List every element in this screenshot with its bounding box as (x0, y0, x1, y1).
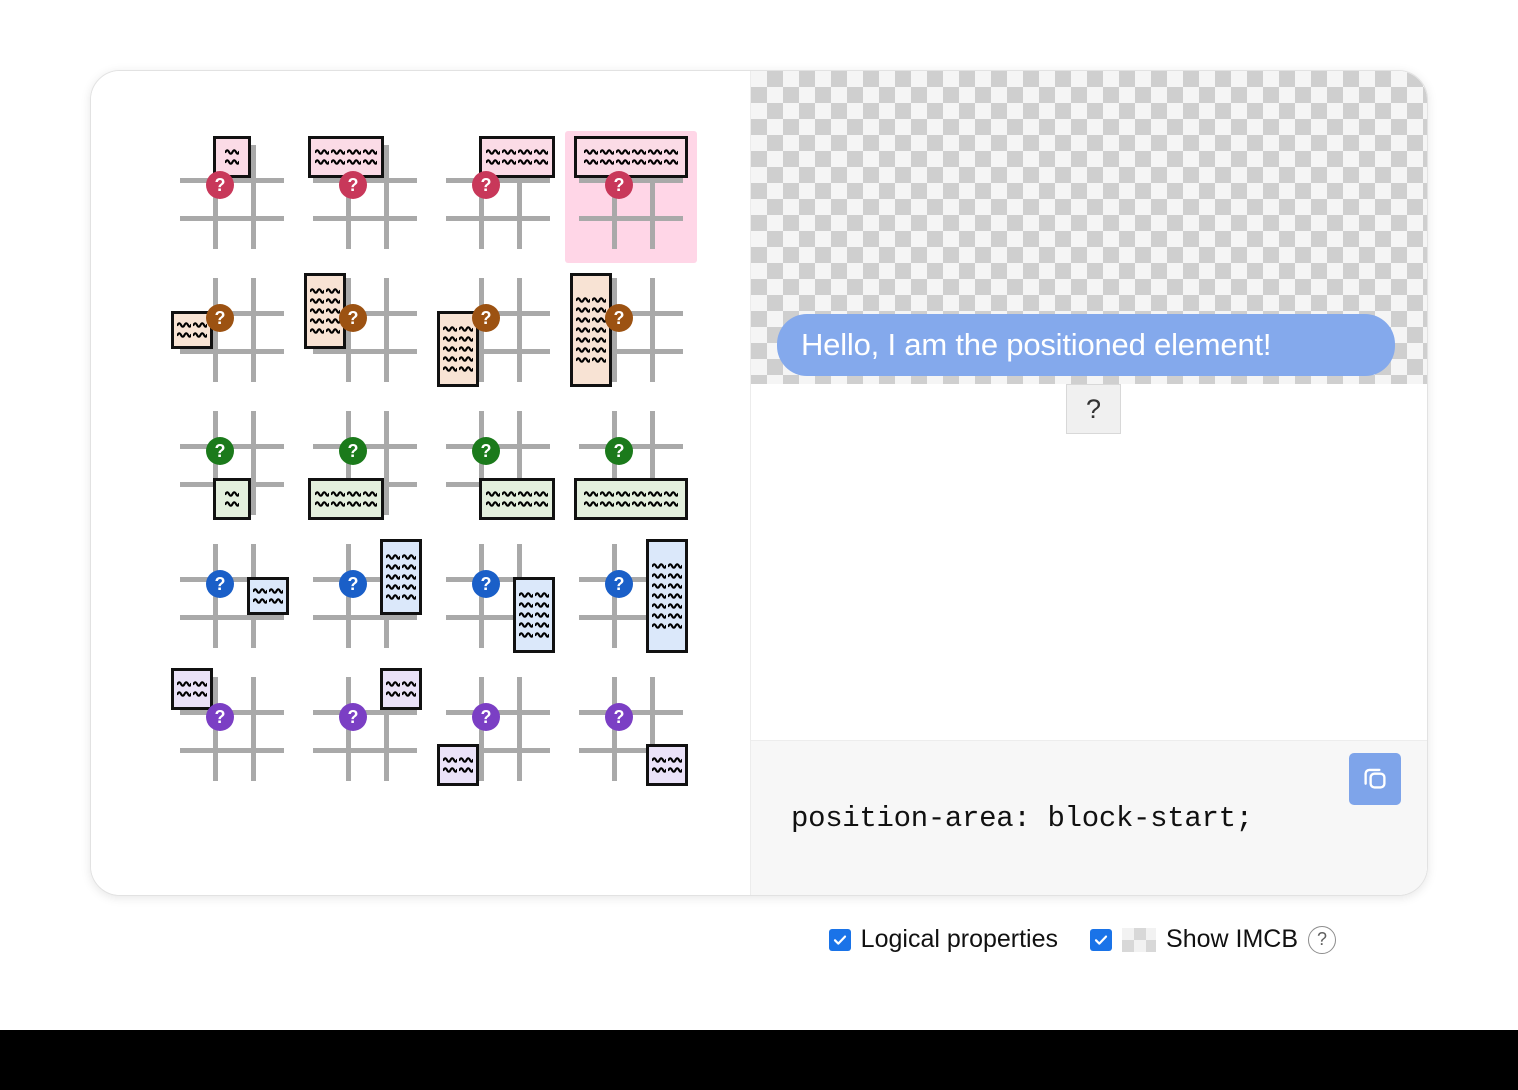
squiggle-icon (592, 336, 606, 344)
squiggle-row (519, 591, 549, 599)
squiggle-row (443, 335, 473, 343)
anchor-marker-icon: ? (206, 304, 234, 332)
squiggle-row (386, 573, 416, 581)
squiggle-row (443, 365, 473, 373)
show-imcb-label: Show IMCB (1166, 925, 1298, 954)
anchor-marker-icon: ? (339, 304, 367, 332)
copy-button[interactable] (1349, 753, 1401, 805)
squiggle-icon (502, 158, 516, 166)
logical-properties-control[interactable]: Logical properties (829, 925, 1058, 954)
anchor-marker-icon: ? (206, 703, 234, 731)
element-box (646, 744, 688, 786)
anchor-marker-icon: ? (472, 171, 500, 199)
squiggle-icon (225, 158, 239, 166)
squiggle-icon (502, 490, 516, 498)
anchor-marker-icon: ? (339, 171, 367, 199)
grid-line (384, 278, 389, 382)
squiggle-icon (502, 500, 516, 508)
squiggle-row (386, 563, 416, 571)
position-area-option[interactable]: ? (166, 663, 298, 795)
squiggle-icon (652, 756, 666, 764)
squiggle-row (315, 158, 377, 166)
grid-line (180, 615, 284, 620)
squiggle-icon (652, 592, 666, 600)
squiggle-row (576, 346, 606, 354)
squiggle-row (584, 148, 678, 156)
anchor-marker-icon: ? (472, 570, 500, 598)
squiggle-icon (459, 345, 473, 353)
squiggle-row (225, 490, 239, 498)
squiggle-icon (486, 490, 500, 498)
squiggle-icon (519, 631, 533, 639)
squiggle-icon (386, 563, 400, 571)
grid-line (579, 216, 683, 221)
squiggle-icon (518, 500, 532, 508)
position-area-option[interactable]: ? (299, 397, 431, 529)
squiggle-row (486, 148, 548, 156)
grid-line (313, 216, 417, 221)
squiggle-row (177, 690, 207, 698)
squiggle-icon (652, 612, 666, 620)
squiggle-icon (310, 327, 324, 335)
squiggle-row (310, 327, 340, 335)
anchor-marker-icon: ? (605, 703, 633, 731)
squiggle-icon (443, 335, 457, 343)
squiggle-icon (648, 490, 662, 498)
squiggle-icon (592, 306, 606, 314)
squiggle-icon (225, 148, 239, 156)
squiggle-icon (652, 766, 666, 774)
squiggle-icon (652, 602, 666, 610)
element-box (574, 478, 688, 520)
squiggle-icon (310, 307, 324, 315)
anchor-element[interactable]: ? (1066, 384, 1121, 434)
position-area-option[interactable]: ? (565, 530, 697, 662)
squiggle-icon (177, 331, 191, 339)
squiggle-icon (363, 490, 377, 498)
squiggle-icon (576, 296, 590, 304)
anchor-marker-icon: ? (339, 703, 367, 731)
squiggle-icon (632, 148, 646, 156)
squiggle-icon (616, 490, 630, 498)
squiggle-icon (331, 158, 345, 166)
grid-line (650, 278, 655, 382)
squiggle-icon (269, 587, 283, 595)
logical-properties-checkbox[interactable] (829, 929, 851, 951)
element-box (171, 668, 213, 710)
squiggle-icon (402, 573, 416, 581)
squiggle-row (652, 756, 682, 764)
squiggle-row (652, 612, 682, 620)
squiggle-icon (386, 680, 400, 688)
squiggle-icon (535, 601, 549, 609)
element-box (380, 539, 422, 615)
squiggle-icon (502, 148, 516, 156)
squiggle-row (652, 602, 682, 610)
position-area-option[interactable]: ? (299, 264, 431, 396)
grid-line (180, 216, 284, 221)
squiggle-row (386, 583, 416, 591)
show-imcb-control[interactable]: Show IMCB (1090, 925, 1298, 954)
squiggle-row (486, 158, 548, 166)
squiggle-icon (402, 593, 416, 601)
squiggle-icon (576, 346, 590, 354)
bottom-bar (0, 1030, 1518, 1090)
squiggle-icon (518, 490, 532, 498)
squiggle-icon (402, 583, 416, 591)
squiggle-icon (535, 611, 549, 619)
squiggle-icon (518, 148, 532, 156)
squiggle-row (486, 490, 548, 498)
squiggle-icon (668, 612, 682, 620)
squiggle-icon (443, 766, 457, 774)
controls-bar: Logical properties Show IMCB ? (0, 925, 1428, 954)
anchor-marker-icon: ? (206, 171, 234, 199)
anchor-marker-icon: ? (472, 703, 500, 731)
grid-line (384, 411, 389, 515)
squiggle-row (386, 553, 416, 561)
squiggle-row (486, 500, 548, 508)
squiggle-row (386, 680, 416, 688)
anchor-marker-icon: ? (605, 171, 633, 199)
squiggle-row (443, 756, 473, 764)
grid-line (251, 145, 256, 249)
squiggle-row (315, 500, 377, 508)
squiggle-icon (534, 158, 548, 166)
squiggle-row (443, 325, 473, 333)
squiggle-icon (584, 500, 598, 508)
squiggle-icon (347, 148, 361, 156)
anchor-marker-icon: ? (605, 570, 633, 598)
squiggle-icon (443, 365, 457, 373)
grid-line (517, 677, 522, 781)
squiggle-icon (632, 490, 646, 498)
squiggle-icon (386, 583, 400, 591)
squiggle-icon (177, 690, 191, 698)
squiggle-row (584, 500, 678, 508)
anchor-marker-icon: ? (472, 437, 500, 465)
squiggle-icon (363, 500, 377, 508)
squiggle-icon (576, 306, 590, 314)
squiggle-icon (535, 591, 549, 599)
squiggle-icon (534, 148, 548, 156)
element-box (247, 577, 289, 615)
squiggle-icon (534, 500, 548, 508)
squiggle-icon (519, 601, 533, 609)
squiggle-icon (632, 158, 646, 166)
squiggle-icon (668, 582, 682, 590)
squiggle-row (519, 621, 549, 629)
squiggle-row (652, 592, 682, 600)
squiggle-icon (600, 158, 614, 166)
grid-line (384, 145, 389, 249)
squiggle-icon (592, 356, 606, 364)
squiggle-icon (668, 562, 682, 570)
squiggle-row (443, 355, 473, 363)
squiggle-row (652, 622, 682, 630)
squiggle-icon (648, 500, 662, 508)
position-area-option[interactable]: ? (299, 131, 431, 263)
squiggle-icon (310, 287, 324, 295)
squiggle-icon (386, 593, 400, 601)
element-box (213, 478, 251, 520)
squiggle-icon (519, 621, 533, 629)
squiggle-icon (535, 631, 549, 639)
squiggle-icon (193, 690, 207, 698)
squiggle-icon (269, 597, 283, 605)
squiggle-icon (315, 490, 329, 498)
position-area-option[interactable]: ? (299, 530, 431, 662)
element-box (646, 539, 688, 653)
squiggle-row (386, 690, 416, 698)
position-area-option[interactable]: ? (432, 663, 564, 795)
show-imcb-checkbox[interactable] (1090, 929, 1112, 951)
squiggle-row (253, 597, 283, 605)
squiggle-icon (486, 148, 500, 156)
squiggle-row (576, 296, 606, 304)
squiggle-icon (315, 500, 329, 508)
squiggle-row (225, 500, 239, 508)
css-declaration: position-area: block-start; (751, 802, 1253, 835)
squiggle-icon (616, 500, 630, 508)
squiggle-icon (443, 325, 457, 333)
element-box (574, 136, 688, 178)
squiggle-row (253, 587, 283, 595)
positioned-element: Hello, I am the positioned element! (777, 314, 1395, 376)
squiggle-icon (363, 148, 377, 156)
squiggle-icon (253, 597, 267, 605)
position-area-picker: ???????????????????? (91, 71, 751, 895)
squiggle-row (652, 766, 682, 774)
squiggle-icon (326, 317, 340, 325)
demo-card: ???????????????????? Hello, I am the pos… (90, 70, 1428, 896)
squiggle-icon (331, 500, 345, 508)
position-area-option[interactable]: ? (432, 530, 564, 662)
squiggle-icon (326, 307, 340, 315)
imcb-swatch-icon (1122, 928, 1156, 952)
squiggle-icon (193, 321, 207, 329)
grid-line (251, 411, 256, 515)
squiggle-icon (177, 680, 191, 688)
squiggle-icon (592, 346, 606, 354)
squiggle-icon (459, 325, 473, 333)
squiggle-icon (486, 500, 500, 508)
position-area-option[interactable]: ? (432, 397, 564, 529)
anchor-marker-icon: ? (339, 437, 367, 465)
position-area-option[interactable]: ? (432, 264, 564, 396)
squiggle-icon (664, 158, 678, 166)
help-icon[interactable]: ? (1308, 926, 1336, 954)
squiggle-row (310, 287, 340, 295)
squiggle-icon (535, 621, 549, 629)
logical-properties-label: Logical properties (861, 925, 1058, 954)
grid-line (180, 349, 284, 354)
position-area-option[interactable]: ? (565, 663, 697, 795)
squiggle-icon (519, 611, 533, 619)
squiggle-icon (459, 365, 473, 373)
squiggle-icon (459, 766, 473, 774)
squiggle-icon (326, 287, 340, 295)
squiggle-icon (600, 148, 614, 156)
squiggle-icon (592, 326, 606, 334)
squiggle-icon (310, 317, 324, 325)
squiggle-icon (486, 158, 500, 166)
squiggle-icon (386, 573, 400, 581)
squiggle-icon (668, 602, 682, 610)
squiggle-icon (600, 500, 614, 508)
squiggle-icon (592, 296, 606, 304)
element-box (479, 478, 555, 520)
squiggle-row (576, 306, 606, 314)
grid-line (446, 216, 550, 221)
squiggle-row (652, 562, 682, 570)
squiggle-icon (225, 500, 239, 508)
element-box (308, 478, 384, 520)
squiggle-icon (648, 148, 662, 156)
grid-line (251, 677, 256, 781)
squiggle-icon (225, 490, 239, 498)
grid-line (313, 349, 417, 354)
squiggle-icon (443, 756, 457, 764)
position-area-option[interactable]: ? (565, 397, 697, 529)
squiggle-icon (402, 680, 416, 688)
squiggle-row (443, 345, 473, 353)
squiggle-row (310, 317, 340, 325)
position-area-option[interactable]: ? (565, 264, 697, 396)
anchor-marker-icon: ? (206, 570, 234, 598)
squiggle-icon (576, 356, 590, 364)
squiggle-icon (592, 316, 606, 324)
squiggle-icon (326, 297, 340, 305)
squiggle-icon (363, 158, 377, 166)
squiggle-icon (518, 158, 532, 166)
element-box (513, 577, 555, 653)
squiggle-icon (402, 690, 416, 698)
anchor-marker-icon: ? (206, 437, 234, 465)
squiggle-row (443, 766, 473, 774)
squiggle-row (310, 307, 340, 315)
grid-line (251, 278, 256, 382)
squiggle-icon (310, 297, 324, 305)
anchor-marker-icon: ? (472, 304, 500, 332)
squiggle-icon (652, 562, 666, 570)
squiggle-icon (386, 553, 400, 561)
squiggle-icon (315, 148, 329, 156)
squiggle-row (225, 148, 239, 156)
squiggle-icon (616, 148, 630, 156)
squiggle-row (519, 631, 549, 639)
squiggle-icon (459, 355, 473, 363)
squiggle-icon (519, 591, 533, 599)
squiggle-icon (648, 158, 662, 166)
squiggle-icon (584, 490, 598, 498)
squiggle-row (177, 331, 207, 339)
squiggle-icon (315, 158, 329, 166)
position-area-option[interactable]: ? (166, 264, 298, 396)
anchor-marker-icon: ? (605, 437, 633, 465)
squiggle-row (315, 490, 377, 498)
squiggle-icon (668, 766, 682, 774)
position-area-option[interactable]: ? (565, 131, 697, 263)
squiggle-icon (584, 148, 598, 156)
squiggle-icon (386, 690, 400, 698)
squiggle-icon (534, 490, 548, 498)
squiggle-icon (331, 490, 345, 498)
code-panel: position-area: block-start; (751, 740, 1427, 895)
squiggle-row (315, 148, 377, 156)
squiggle-row (576, 316, 606, 324)
anchor-marker-icon: ? (605, 304, 633, 332)
squiggle-icon (193, 680, 207, 688)
squiggle-icon (347, 490, 361, 498)
grid-line (517, 278, 522, 382)
anchor-marker-icon: ? (339, 570, 367, 598)
squiggle-icon (253, 587, 267, 595)
squiggle-icon (193, 331, 207, 339)
squiggle-row (310, 297, 340, 305)
squiggle-row (386, 593, 416, 601)
squiggle-icon (652, 622, 666, 630)
squiggle-icon (652, 572, 666, 580)
squiggle-icon (632, 500, 646, 508)
preview-column: Hello, I am the positioned element! ? po… (751, 71, 1427, 895)
squiggle-row (519, 611, 549, 619)
squiggle-icon (600, 490, 614, 498)
grid-line (313, 615, 417, 620)
squiggle-icon (326, 327, 340, 335)
inset-modified-containing-block: Hello, I am the positioned element! (751, 71, 1427, 384)
element-box (570, 273, 612, 387)
squiggle-icon (668, 572, 682, 580)
squiggle-row (177, 321, 207, 329)
position-area-option[interactable]: ? (166, 530, 298, 662)
squiggle-icon (331, 148, 345, 156)
squiggle-icon (668, 756, 682, 764)
squiggle-icon (402, 563, 416, 571)
squiggle-row (576, 326, 606, 334)
preview-spacer (751, 384, 1427, 740)
grid-line (313, 748, 417, 753)
squiggle-icon (652, 582, 666, 590)
squiggle-icon (402, 553, 416, 561)
copy-icon (1360, 763, 1390, 796)
grid-line (180, 748, 284, 753)
squiggle-row (652, 582, 682, 590)
squiggle-icon (664, 500, 678, 508)
squiggle-row (225, 158, 239, 166)
squiggle-icon (443, 345, 457, 353)
position-area-option[interactable]: ? (299, 663, 431, 795)
squiggle-row (519, 601, 549, 609)
squiggle-icon (347, 158, 361, 166)
squiggle-icon (443, 355, 457, 363)
squiggle-icon (668, 592, 682, 600)
squiggle-icon (459, 756, 473, 764)
squiggle-row (177, 680, 207, 688)
position-area-option[interactable]: ? (432, 131, 564, 263)
squiggle-icon (576, 336, 590, 344)
squiggle-row (576, 336, 606, 344)
position-area-option[interactable]: ? (166, 397, 298, 529)
position-area-option[interactable]: ? (166, 131, 298, 263)
squiggle-row (652, 572, 682, 580)
squiggle-icon (664, 490, 678, 498)
squiggle-row (584, 158, 678, 166)
squiggle-icon (576, 326, 590, 334)
squiggle-icon (459, 335, 473, 343)
squiggle-icon (616, 158, 630, 166)
squiggle-icon (576, 316, 590, 324)
